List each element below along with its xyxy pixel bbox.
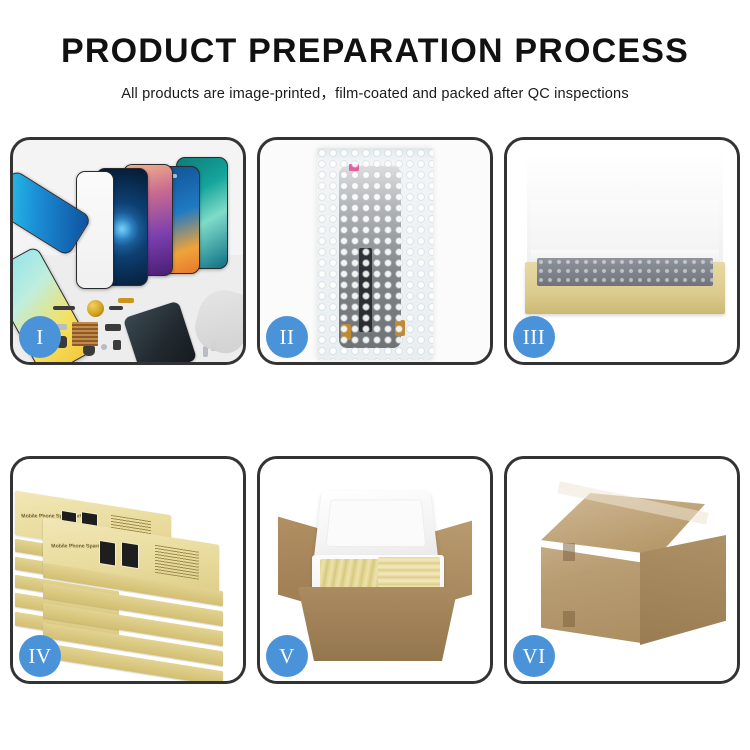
step-badge-6: VI (513, 635, 555, 677)
page-title: PRODUCT PREPARATION PROCESS (0, 34, 750, 70)
box-screenshot-2b (121, 541, 139, 569)
carton-front-face (541, 547, 641, 643)
step-badge-4: IV (19, 635, 61, 677)
part-flex-cable (109, 306, 123, 310)
product-preparation-infographic: PRODUCT PREPARATION PROCESS All products… (0, 0, 750, 750)
page-subtitle: All products are image-printed，film-coat… (0, 82, 750, 103)
step-panel-1[interactable]: I (10, 137, 246, 365)
step-badge-2: II (266, 316, 308, 358)
part-chip-grid (72, 322, 98, 346)
camera-module-icon (87, 300, 104, 317)
step-panel-4[interactable]: Mobile Phone Spare Parts Mobile Phone Sp… (10, 456, 246, 684)
step-badge-3: III (513, 316, 555, 358)
part-screw (101, 344, 107, 350)
foam-box-lid (314, 491, 439, 560)
box-screenshot-2a (99, 540, 116, 567)
part-vibrator (113, 340, 121, 350)
step-panel-5[interactable]: V (257, 456, 493, 684)
bubble-wrap-bag (317, 148, 433, 360)
step-panel-2[interactable]: II (257, 137, 493, 365)
part-earpiece (53, 306, 75, 310)
shipping-carton-open (298, 587, 458, 661)
carton-seam-lower (563, 611, 575, 627)
step-panel-6[interactable]: VI (504, 456, 740, 684)
header: PRODUCT PREPARATION PROCESS All products… (0, 0, 750, 103)
part-gold-flex (118, 298, 134, 303)
step-badge-1: I (19, 316, 61, 358)
part-small-flex (105, 324, 121, 331)
carton-seam-upper (563, 543, 575, 561)
steps-grid: I II (10, 137, 740, 684)
step-panel-3[interactable]: III (504, 137, 740, 365)
part-speaker (83, 346, 95, 356)
step-badge-5: V (266, 635, 308, 677)
bubble-texture (317, 148, 433, 360)
bubble-wrapped-contents (537, 258, 713, 286)
